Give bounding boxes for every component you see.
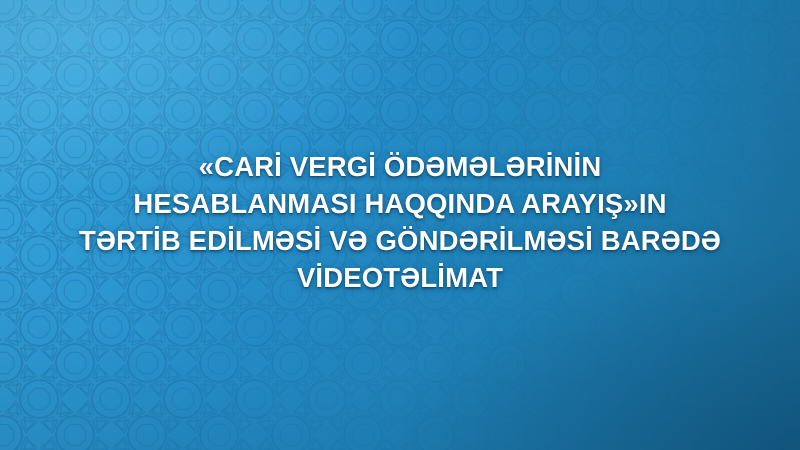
title-line-1: «CARİ VERGİ ÖDƏMƏLƏRİNİN: [26, 148, 774, 185]
video-title-slide: «CARİ VERGİ ÖDƏMƏLƏRİNİN HESABLANMASI HA…: [0, 0, 800, 450]
title-line-2: HESABLANMASI HAQQINDA ARAYIŞ»IN: [26, 185, 774, 222]
title-line-4: VİDEOTƏLİMAT: [26, 259, 774, 296]
title-line-3: TƏRTİB EDİLMƏSİ VƏ GÖNDƏRİLMƏSİ BARƏDƏ: [26, 222, 774, 259]
slide-title: «CARİ VERGİ ÖDƏMƏLƏRİNİN HESABLANMASI HA…: [0, 148, 800, 296]
